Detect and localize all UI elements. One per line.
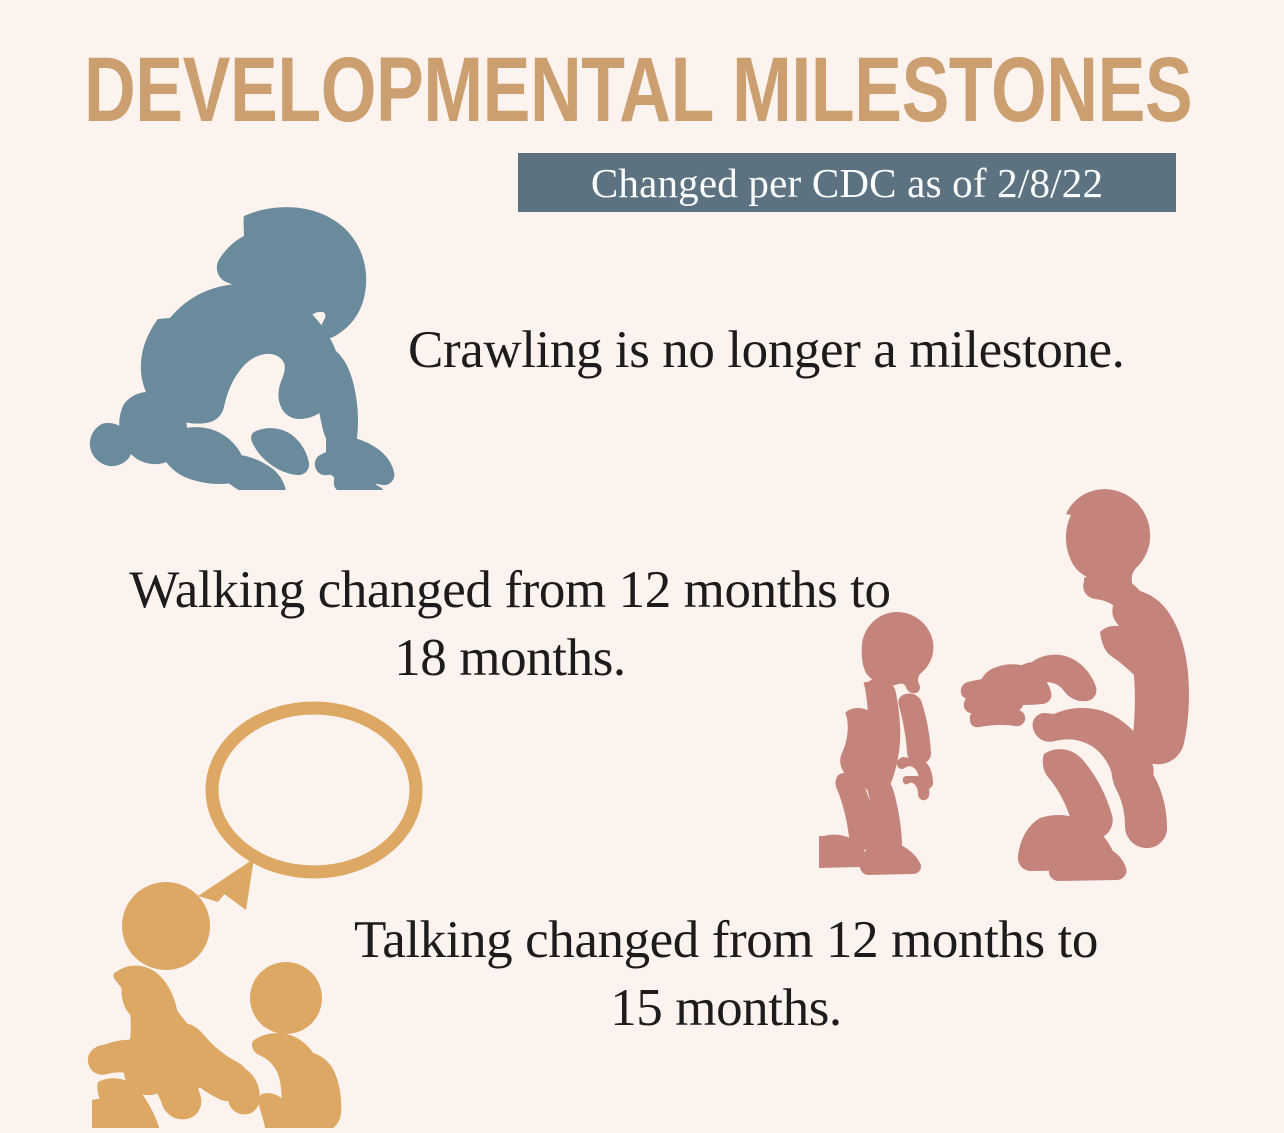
crawling-baby-icon	[78, 198, 450, 490]
cdc-update-banner: Changed per CDC as of 2/8/22	[518, 153, 1176, 212]
speech-bubble-outline	[212, 708, 416, 872]
cdc-update-banner-label: Changed per CDC as of 2/8/22	[591, 161, 1103, 205]
developmental-milestones-infographic: DEVELOPMENTAL MILESTONES Changed per CDC…	[0, 0, 1284, 1133]
crawling-milestone-text: Crawling is no longer a milestone.	[408, 316, 1198, 384]
talking-milestone-text: Talking changed from 12 months to 15 mon…	[300, 906, 1152, 1042]
walking-milestone-line-2: 18 months.	[88, 624, 932, 692]
talking-milestone-line-1: Talking changed from 12 months to	[300, 906, 1152, 974]
walking-milestone-text: Walking changed from 12 months to 18 mon…	[88, 556, 932, 692]
walking-milestone-line-1: Walking changed from 12 months to	[88, 556, 932, 624]
page-title: DEVELOPMENTAL MILESTONES	[84, 44, 955, 136]
talking-milestone-line-2: 15 months.	[300, 974, 1152, 1042]
